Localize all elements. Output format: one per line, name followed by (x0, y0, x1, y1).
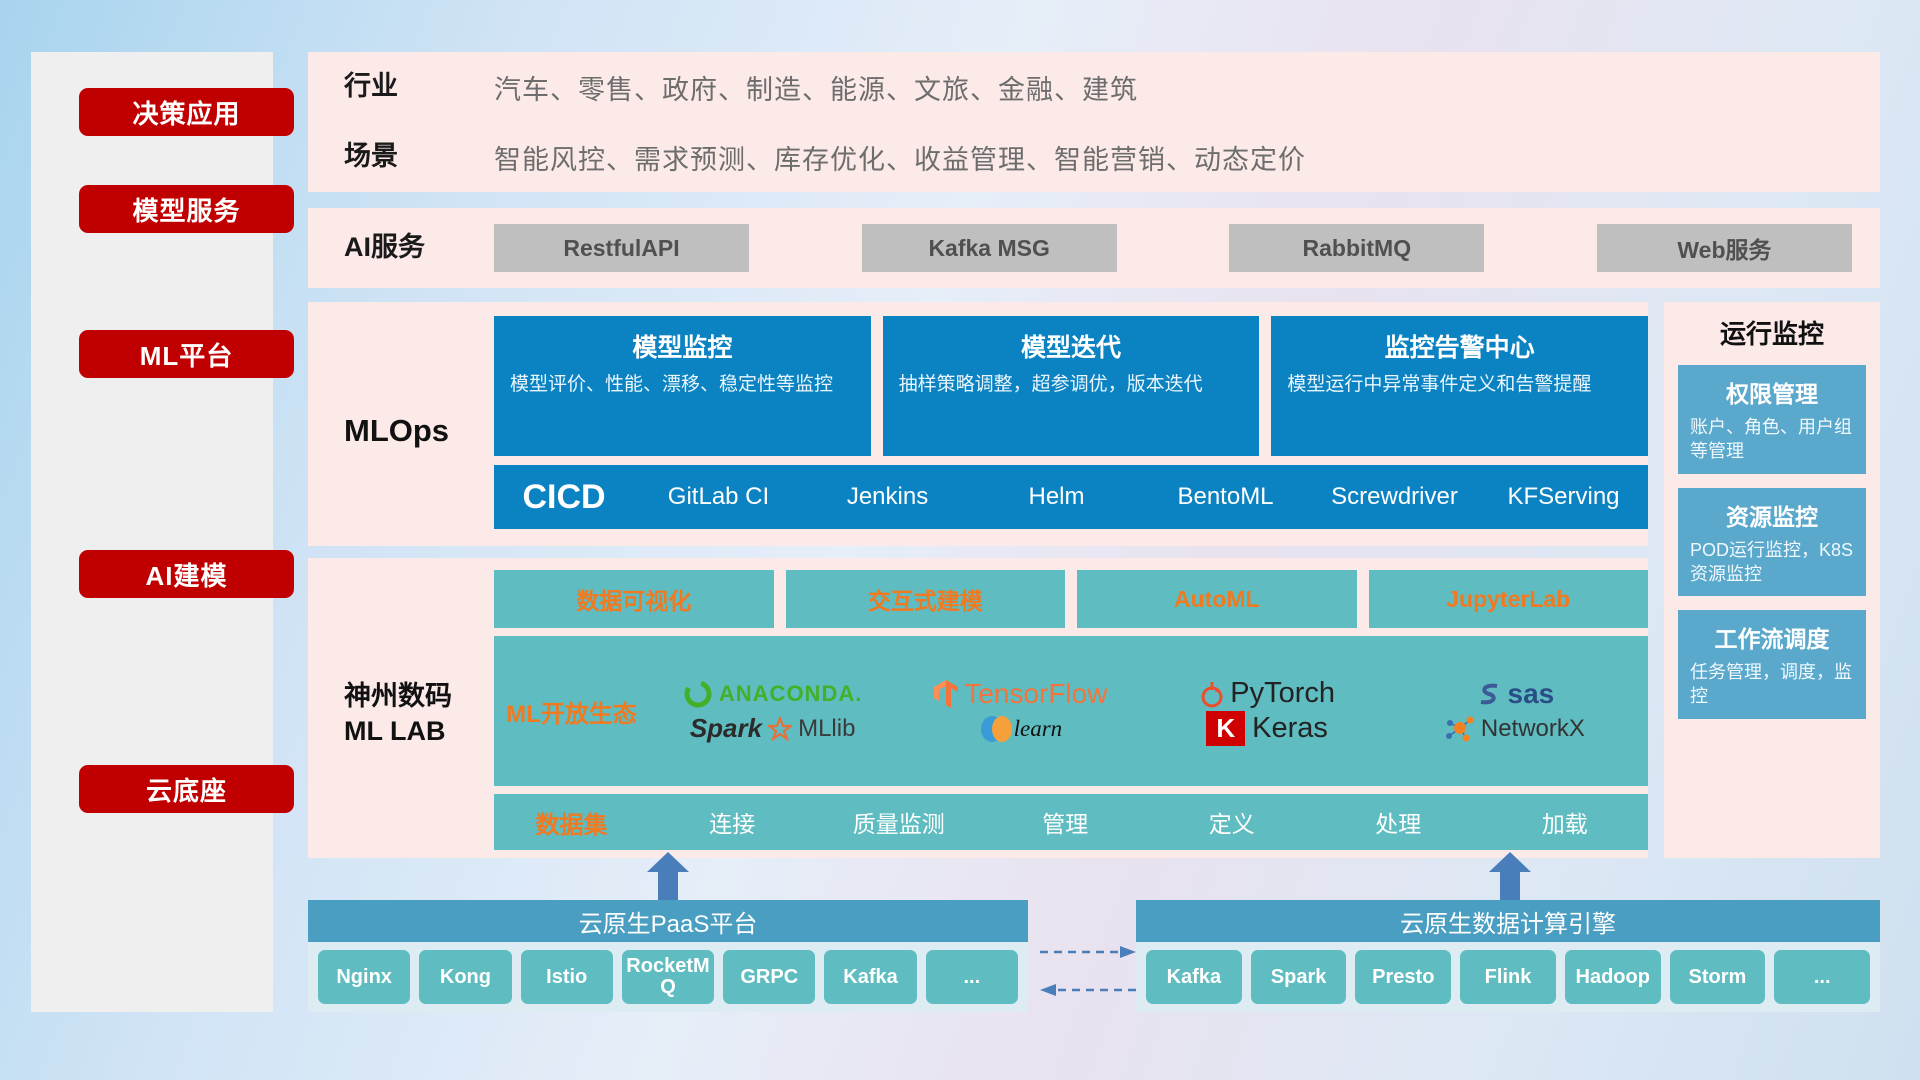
runtime-monitor-title: 运行监控 (1664, 302, 1880, 351)
mlops-card-model-iteration[interactable]: 模型迭代 抽样策略调整，超参调优，版本迭代 (883, 316, 1260, 456)
monitor-card-desc: POD运行监控，K8S资源监控 (1690, 538, 1854, 587)
ai-service-label: AI服务 (344, 231, 494, 265)
mlops-card-desc: 模型运行中异常事件定义和告警提醒 (1287, 372, 1632, 398)
cicd-item-bentoml[interactable]: BentoML (1141, 484, 1310, 509)
monitor-card-desc: 账户、角色、用户组等管理 (1690, 415, 1854, 464)
cloud-data-engine-title: 云原生数据计算引擎 (1136, 900, 1880, 942)
paas-tag-istio[interactable]: Istio (521, 950, 613, 1004)
anaconda-logo: ANACONDA. (683, 679, 862, 709)
dataset-item-manage[interactable]: 管理 (982, 805, 1149, 839)
engine-tag-hadoop[interactable]: Hadoop (1565, 950, 1661, 1004)
ml-lab-band: 神州数码 ML LAB 数据可视化 交互式建模 AutoML JupyterLa… (308, 558, 1648, 858)
mllib-text: MLlib (798, 715, 855, 743)
networkx-logo: NetworkX (1444, 714, 1585, 744)
cicd-item-screwdriver[interactable]: Screwdriver (1310, 484, 1479, 509)
scikit-learn-logo: learn (978, 712, 1063, 746)
monitor-card-title: 权限管理 (1690, 375, 1854, 409)
ml-lab-label-line1: 神州数码 (344, 679, 452, 714)
mlops-card-desc: 抽样策略调整，超参调优，版本迭代 (899, 372, 1244, 398)
pytorch-logo: PyTorch (1199, 677, 1335, 710)
rail-badge-label: 决策应用 (132, 94, 240, 131)
lab-tool-automl[interactable]: AutoML (1077, 570, 1357, 628)
tensorflow-logo: TensorFlow (932, 678, 1107, 710)
mlops-card-title: 模型监控 (510, 328, 855, 364)
tensorflow-logo-text: TensorFlow (964, 678, 1107, 710)
cicd-item-kfserving[interactable]: KFServing (1479, 484, 1648, 509)
engine-tag-more[interactable]: ... (1774, 950, 1870, 1004)
ai-chip-kafka-msg[interactable]: Kafka MSG (862, 224, 1117, 272)
scenario-row-value: 智能风控、需求预测、库存优化、收益管理、智能营销、动态定价 (494, 138, 1880, 177)
rail-badge-ml-platform[interactable]: ML平台 (79, 330, 294, 378)
monitor-card-resource[interactable]: 资源监控 POD运行监控，K8S资源监控 (1678, 488, 1866, 597)
left-rail: 决策应用 模型服务 ML平台 AI建模 云底座 (31, 52, 273, 1012)
arrow-up-data-engine-icon (1487, 852, 1533, 900)
industry-row-label: 行业 (344, 70, 494, 104)
cloud-paas-block: 云原生PaaS平台 Nginx Kong Istio RocketMQ GRPC… (308, 900, 1028, 1012)
ai-chip-label: Web服务 (1677, 231, 1771, 265)
mlops-card-desc: 模型评价、性能、漂移、稳定性等监控 (510, 372, 855, 398)
ml-ecosystem-row: ML开放生态 ANACONDA. TensorFlow (494, 636, 1648, 786)
anaconda-logo-text: ANACONDA. (719, 681, 862, 707)
rail-badge-label: 模型服务 (132, 191, 240, 228)
rail-badge-ai-modeling[interactable]: AI建模 (79, 550, 294, 598)
scenario-row-label: 场景 (344, 140, 494, 174)
rail-badge-label: 云底座 (146, 771, 227, 808)
monitor-card-desc: 任务管理，调度，监控 (1690, 660, 1854, 709)
pytorch-logo-text: PyTorch (1230, 677, 1335, 710)
arrow-up-paas-icon (645, 852, 691, 900)
cicd-item-gitlab-ci[interactable]: GitLab CI (634, 484, 803, 509)
ml-lab-label-line2: ML LAB (344, 714, 452, 749)
paas-tag-grpc[interactable]: GRPC (723, 950, 815, 1004)
engine-tag-flink[interactable]: Flink (1460, 950, 1556, 1004)
ai-service-band: AI服务 RestfulAPI Kafka MSG RabbitMQ Web服务 (308, 208, 1880, 288)
runtime-monitor-panel: 运行监控 权限管理 账户、角色、用户组等管理 资源监控 POD运行监控，K8S资… (1664, 302, 1880, 858)
networkx-logo-text: NetworkX (1481, 715, 1585, 743)
paas-tag-rocketmq[interactable]: RocketMQ (622, 950, 714, 1004)
monitor-card-permission[interactable]: 权限管理 账户、角色、用户组等管理 (1678, 365, 1866, 474)
monitor-card-workflow[interactable]: 工作流调度 任务管理，调度，监控 (1678, 610, 1866, 719)
ai-chip-rabbitmq[interactable]: RabbitMQ (1229, 224, 1484, 272)
dataset-item-connect[interactable]: 连接 (649, 805, 816, 839)
cicd-item-jenkins[interactable]: Jenkins (803, 484, 972, 509)
spark-mllib-logo: Spark MLlib (690, 713, 856, 744)
rail-badge-label: ML平台 (140, 336, 234, 373)
mlops-label: MLOps (344, 316, 494, 546)
ai-chip-label: RestfulAPI (563, 235, 679, 262)
engine-tag-storm[interactable]: Storm (1670, 950, 1766, 1004)
industry-row-value: 汽车、零售、政府、制造、能源、文旅、金融、建筑 (494, 68, 1880, 107)
sas-logo: sas (1475, 678, 1555, 710)
dataset-item-define[interactable]: 定义 (1149, 805, 1316, 839)
keras-logo: K Keras (1206, 711, 1328, 746)
cloud-paas-title: 云原生PaaS平台 (308, 900, 1028, 942)
ai-chip-restfulapi[interactable]: RestfulAPI (494, 224, 749, 272)
diagram-canvas: 决策应用 模型服务 ML平台 AI建模 云底座 行业 汽车、零售、政府、制造、能… (0, 0, 1920, 1080)
paas-tag-kafka[interactable]: Kafka (824, 950, 916, 1004)
cicd-title: CICD (494, 478, 634, 517)
industry-band: 行业 汽车、零售、政府、制造、能源、文旅、金融、建筑 场景 智能风控、需求预测、… (308, 52, 1880, 192)
sas-logo-text: sas (1508, 678, 1555, 710)
engine-tag-kafka[interactable]: Kafka (1146, 950, 1242, 1004)
keras-logo-text: Keras (1252, 712, 1328, 745)
mlops-card-title: 监控告警中心 (1287, 328, 1632, 364)
cloud-data-engine-block: 云原生数据计算引擎 Kafka Spark Presto Flink Hadoo… (1136, 900, 1880, 1012)
monitor-card-title: 工作流调度 (1690, 620, 1854, 654)
mlops-card-model-monitoring[interactable]: 模型监控 模型评价、性能、漂移、稳定性等监控 (494, 316, 871, 456)
lab-tool-data-visualization[interactable]: 数据可视化 (494, 570, 774, 628)
lab-tool-interactive-modeling[interactable]: 交互式建模 (786, 570, 1066, 628)
paas-tag-nginx[interactable]: Nginx (318, 950, 410, 1004)
monitor-card-title: 资源监控 (1690, 498, 1854, 532)
mlops-card-alert-center[interactable]: 监控告警中心 模型运行中异常事件定义和告警提醒 (1271, 316, 1648, 456)
cicd-item-helm[interactable]: Helm (972, 484, 1141, 509)
rail-badge-cloud-base[interactable]: 云底座 (79, 765, 294, 813)
dataset-item-process[interactable]: 处理 (1315, 805, 1482, 839)
ai-chip-label: Kafka MSG (928, 235, 1049, 262)
lab-tool-jupyterlab[interactable]: JupyterLab (1369, 570, 1649, 628)
dataset-item-load[interactable]: 加载 (1482, 805, 1649, 839)
engine-tag-presto[interactable]: Presto (1355, 950, 1451, 1004)
dataset-row: 数据集 连接 质量监测 管理 定义 处理 加载 (494, 794, 1648, 850)
rail-badge-decision[interactable]: 决策应用 (79, 88, 294, 136)
ml-ecosystem-label: ML开放生态 (494, 694, 649, 729)
engine-tag-spark[interactable]: Spark (1251, 950, 1347, 1004)
mlops-band: MLOps 模型监控 模型评价、性能、漂移、稳定性等监控 模型迭代 抽样策略调整… (308, 302, 1648, 546)
rail-badge-label: AI建模 (145, 556, 227, 593)
rail-badge-model-service[interactable]: 模型服务 (79, 185, 294, 233)
bidirectional-dashed-link-icon (1040, 940, 1136, 1002)
paas-tag-kong[interactable]: Kong (419, 950, 511, 1004)
cicd-bar: CICD GitLab CI Jenkins Helm BentoML Scre… (494, 465, 1648, 529)
dataset-title: 数据集 (494, 805, 649, 840)
dataset-item-quality[interactable]: 质量监测 (816, 805, 983, 839)
ai-chip-label: RabbitMQ (1303, 235, 1412, 262)
ai-chip-web-service[interactable]: Web服务 (1597, 224, 1852, 272)
paas-tag-more[interactable]: ... (926, 950, 1018, 1004)
mlops-card-title: 模型迭代 (899, 328, 1244, 364)
ml-lab-label: 神州数码 ML LAB (344, 570, 494, 858)
